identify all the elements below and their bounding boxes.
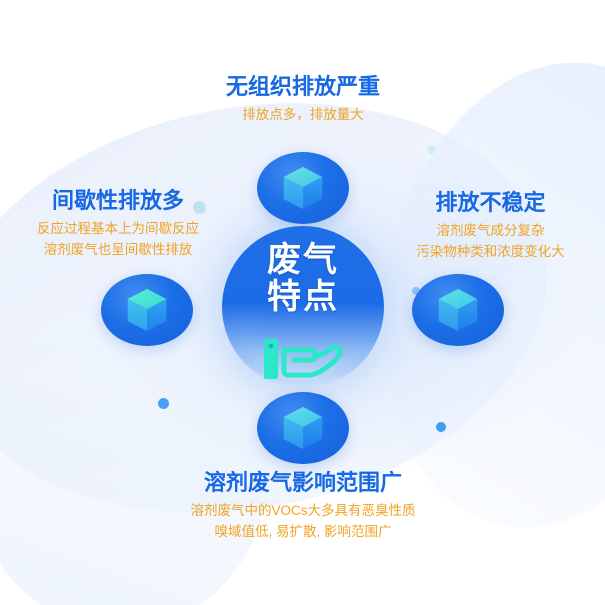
block-bottom-subtitle-line-1: 溶剂废气中的VOCs大多具有恶臭性质: [148, 501, 458, 521]
block-bottom: 溶剂废气影响范围广 溶剂废气中的VOCs大多具有恶臭性质 嗅域值低, 易扩散, …: [148, 470, 458, 542]
node-top[interactable]: [257, 152, 349, 224]
block-right-title: 排放不稳定: [378, 190, 603, 216]
block-top-title: 无组织排放严重: [163, 74, 443, 100]
node-left[interactable]: [101, 274, 193, 346]
dot-upper-right: [427, 145, 436, 154]
node-right[interactable]: [412, 274, 504, 346]
cube-icon: [436, 287, 480, 333]
dot-lower-right: [436, 422, 446, 432]
background-sweep-left: [0, 300, 270, 605]
block-right-subtitle-line-2: 污染物种类和浓度变化大: [378, 242, 603, 262]
hub-title-line-2: 特点: [267, 279, 339, 316]
block-left-subtitle-line-1: 反应过程基本上为间歇反应: [3, 219, 233, 239]
block-left-title: 间歇性排放多: [3, 188, 233, 214]
block-top-subtitle-line-1: 排放点多，排放量大: [163, 105, 443, 125]
cube-icon: [281, 165, 325, 211]
cube-icon: [125, 287, 169, 333]
node-bottom[interactable]: [257, 392, 349, 464]
block-right: 排放不稳定 溶剂废气成分复杂 污染物种类和浓度变化大: [378, 190, 603, 262]
block-bottom-title: 溶剂废气影响范围广: [148, 470, 458, 496]
hub-title-line-1: 废气: [267, 242, 339, 279]
block-left-subtitle-line-2: 溶剂废气也呈间歇性排放: [3, 240, 233, 260]
open-hand-icon: [260, 330, 346, 382]
block-top: 无组织排放严重 排放点多，排放量大: [163, 74, 443, 125]
block-left: 间歇性排放多 反应过程基本上为间歇反应 溶剂废气也呈间歇性排放: [3, 188, 233, 260]
hub-circle[interactable]: 废气 特点: [222, 226, 384, 388]
cube-icon: [281, 405, 325, 451]
block-bottom-subtitle-line-2: 嗅域值低, 易扩散, 影响范围广: [148, 522, 458, 542]
infographic-canvas: 无组织排放严重 排放点多，排放量大 间歇性排放多 反应过程基本上为间歇反应: [0, 0, 605, 605]
block-right-subtitle-line-1: 溶剂废气成分复杂: [378, 221, 603, 241]
dot-lower-left: [158, 398, 169, 409]
